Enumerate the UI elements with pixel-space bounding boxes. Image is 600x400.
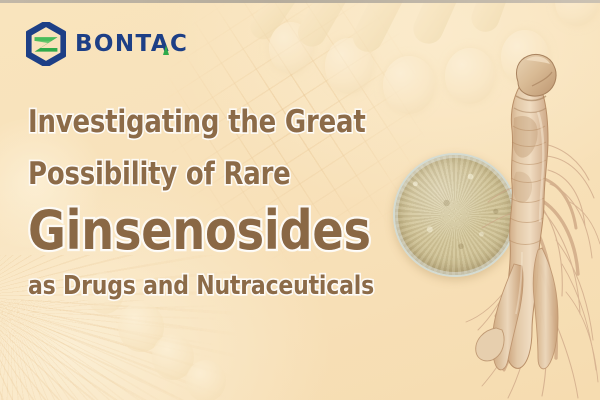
background-fan-texture-2 (0, 300, 240, 400)
headline-line-1: Investigating the Great (28, 104, 381, 140)
top-border-rule (0, 0, 600, 3)
bontac-wordmark-text: BONTAC (75, 31, 188, 57)
bontac-hexagon-leaf-icon (26, 22, 66, 66)
bontac-a-green-accent (163, 45, 169, 55)
headline-line-2: Possibility of Rare (28, 156, 381, 192)
bontac-wordmark: BONTAC (75, 33, 188, 56)
bontac-logo[interactable]: BONTAC (26, 22, 188, 66)
headline-line-4: as Drugs and Nutraceuticals (28, 271, 385, 301)
headline-block: Investigating the Great Possibility of R… (28, 104, 408, 301)
ginseng-root-image (452, 52, 600, 400)
headline-line-3-ginsenosides: Ginsenosides (28, 202, 389, 260)
ginsenosides-banner: BONTAC Investigating the Great Possibili… (0, 0, 600, 400)
